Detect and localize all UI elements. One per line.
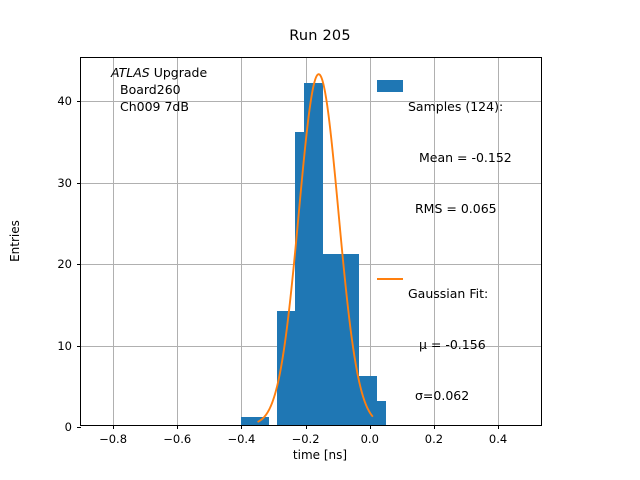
x-tick [113,425,114,429]
samples-mean: Mean = -0.152 [408,149,512,166]
samples-rms: RMS = 0.065 [408,200,512,217]
y-tick [77,427,81,428]
atlas-label: ATLAS [111,65,150,80]
y-tick [77,264,81,265]
plot-axes: −0.8−0.6−0.4−0.20.00.20.4010203040 ATLAS… [80,57,542,426]
x-tick-label: −0.6 [163,432,191,446]
fit-header: Gaussian Fit: [408,285,488,302]
samples-header: Samples (124): [408,98,512,115]
x-tick [241,425,242,429]
x-axis-label: time [ns] [0,448,640,462]
x-tick-label: −0.8 [99,432,127,446]
y-tick-label: 40 [57,94,72,108]
y-tick [77,101,81,102]
legend-entry-samples: Samples (124): Mean = -0.152 RMS = 0.065 [372,64,512,251]
annotation-line-1: ATLAS Upgrade [111,64,207,81]
legend-text-fit: Gaussian Fit: μ = -0.156 σ=0.062 [408,251,488,438]
fit-sigma: σ=0.062 [408,387,488,404]
x-tick [306,425,307,429]
legend-key-patch [372,64,408,92]
upgrade-label: Upgrade [150,65,207,80]
x-tick [177,425,178,429]
y-tick-label: 10 [57,339,72,353]
legend-entry-fit: Gaussian Fit: μ = -0.156 σ=0.062 [372,251,512,438]
chart-title: Run 205 [0,28,640,44]
legend: Samples (124): Mean = -0.152 RMS = 0.065… [372,64,512,438]
x-tick-label: −0.4 [227,432,255,446]
x-tick-label: −0.2 [292,432,320,446]
legend-text-samples: Samples (124): Mean = -0.152 RMS = 0.065 [408,64,512,251]
annotation-line-3: Ch009 7dB [111,98,207,115]
y-tick [77,183,81,184]
y-tick-label: 30 [57,176,72,190]
y-tick [77,346,81,347]
y-tick-label: 0 [65,420,72,434]
atlas-annotation: ATLAS Upgrade Board260 Ch009 7dB [111,64,207,115]
x-tick [370,425,371,429]
y-tick-label: 20 [57,257,72,271]
legend-key-line [372,251,408,280]
fit-mu: μ = -0.156 [408,336,488,353]
annotation-line-2: Board260 [111,81,207,98]
bar-swatch-icon [377,80,403,92]
figure: Run 205 −0.8−0.6−0.4−0.20.00.20.40102030… [0,0,640,480]
y-axis-label: Entries [8,220,22,262]
line-swatch-icon [377,278,403,280]
